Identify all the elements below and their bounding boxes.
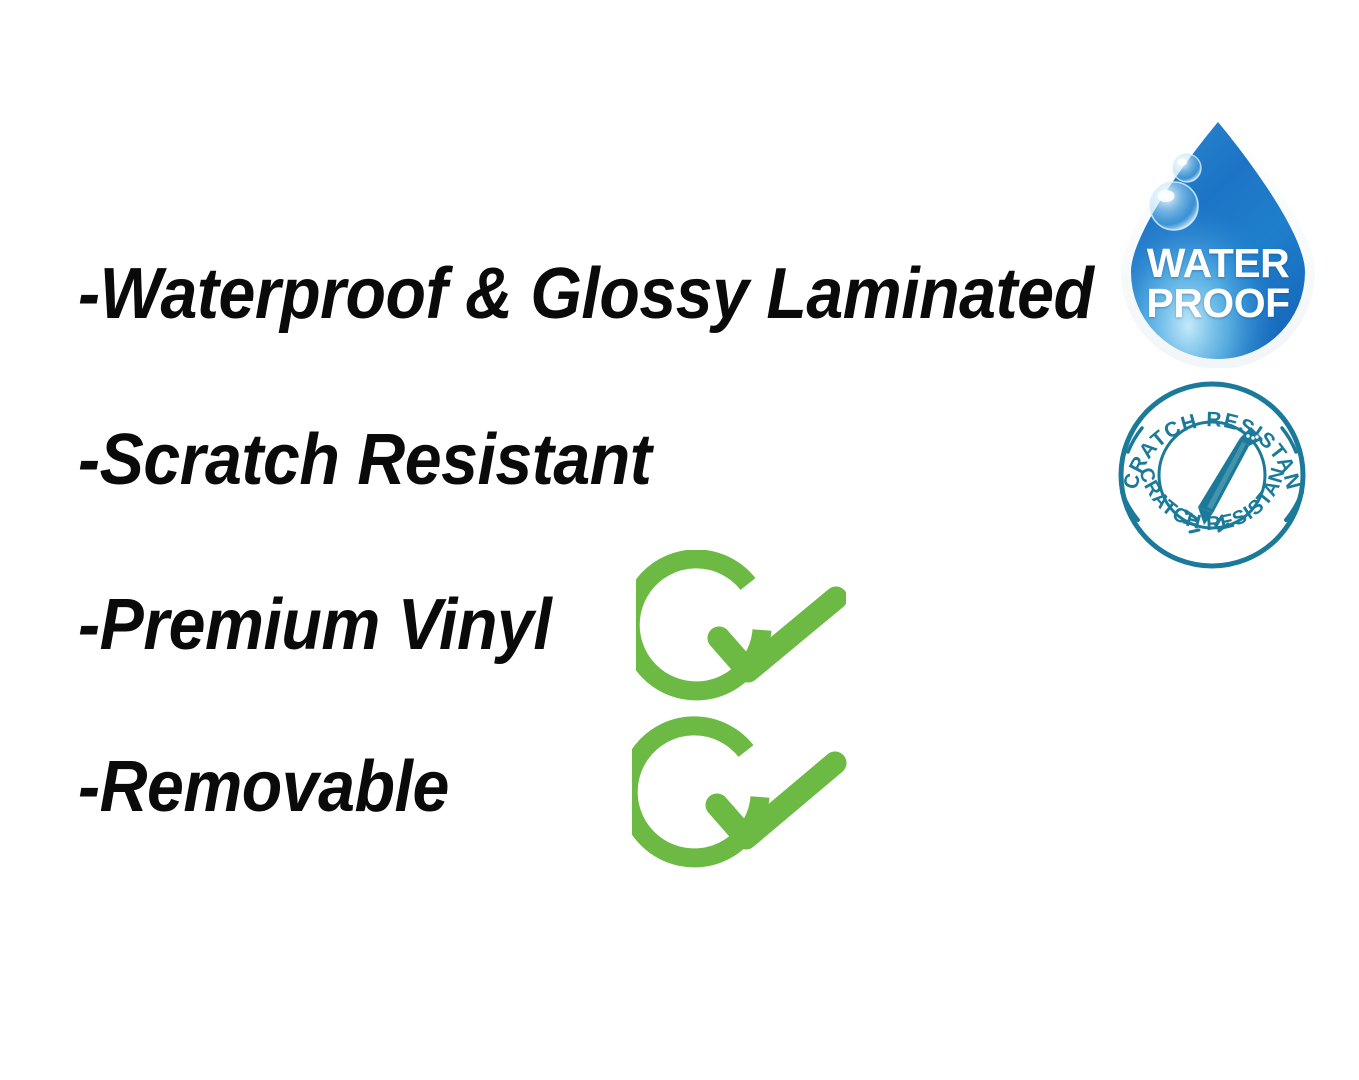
feature-line-premium-vinyl: -Premium Vinyl <box>78 589 551 661</box>
check-circle-icon <box>636 550 846 715</box>
water-drop-icon <box>1112 106 1324 368</box>
feature-line-scratch-resistant: -Scratch Resistant <box>78 424 651 496</box>
promo-feature-graphic: -Waterproof & Glossy Laminated -Scratch … <box>0 0 1359 1080</box>
feature-line-waterproof-glossy-laminated: -Waterproof & Glossy Laminated <box>78 258 1094 330</box>
feature-line-removable: -Removable <box>78 751 449 823</box>
check-circle-icon <box>632 715 847 885</box>
waterproof-badge: WATER PROOF <box>1112 106 1324 368</box>
scratch-resistant-badge: SCRATCH RESISTANT SCRATCH RESISTANT <box>1112 380 1312 570</box>
